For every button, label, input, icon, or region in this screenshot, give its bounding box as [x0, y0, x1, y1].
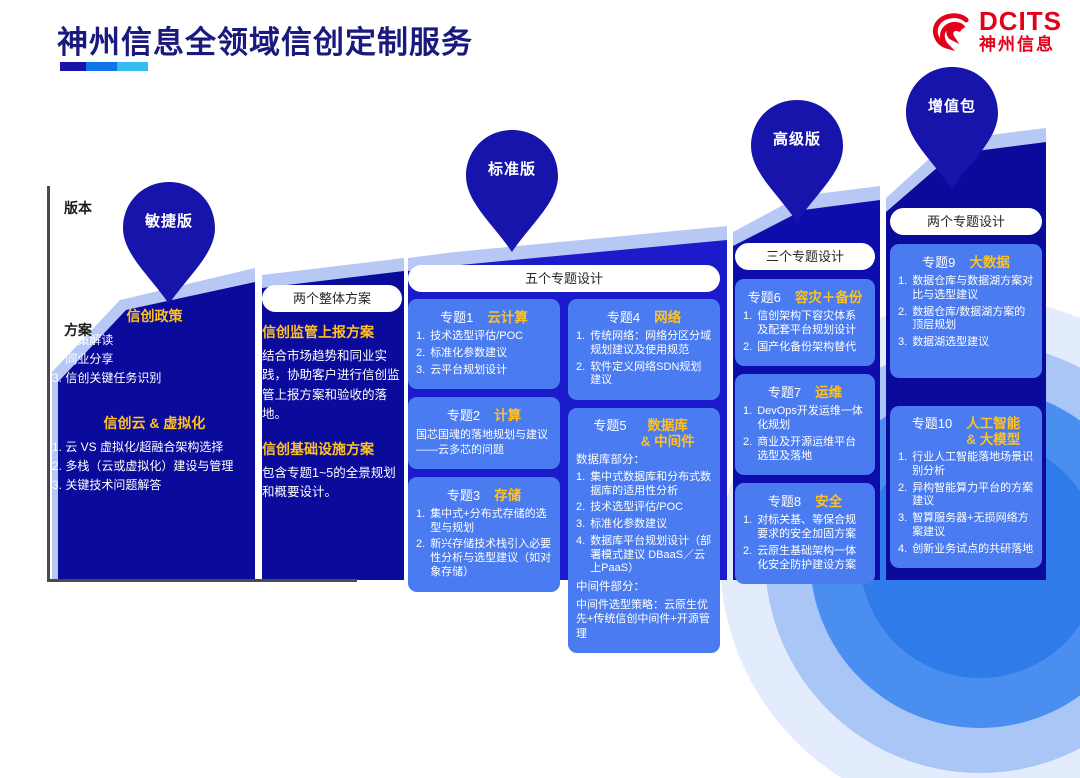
card-number: 专题9: [922, 252, 955, 271]
block-title: 信创云 & 虚拟化: [52, 413, 257, 433]
card-topic-1[interactable]: 专题1 云计算 1.技术选型评估/POC 2.标准化参数建议 3.云平台规划设计: [408, 299, 560, 389]
axis-baseline: [47, 579, 357, 582]
map-pin-icon: [120, 180, 218, 306]
card-keyword: 运维: [815, 381, 842, 401]
chip-three-topic-design: 三个专题设计: [735, 243, 875, 270]
card-keyword: 人工智能 & 大模型: [966, 416, 1020, 447]
card-number: 专题2: [447, 405, 480, 424]
card-number: 专题4: [607, 307, 640, 326]
block-xinchuang-policy: 信创政策 1. 政策解读 2. 同业分享 3. 信创关键任务识别: [52, 306, 257, 389]
card-section-label: 中间件部分：: [576, 580, 712, 595]
list-item: 2.新兴存储技术栈引入必要性分析与选型建议（如对象存储）: [416, 538, 552, 579]
list-item: 4.创新业务试点的共研落地: [898, 543, 1034, 557]
list-item: 3. 关键技术问题解答: [52, 476, 257, 495]
list-item: 2.软件定义网络SDN规划建议: [576, 361, 712, 389]
card-number: 专题10: [912, 413, 952, 432]
pin-label: 高级版: [748, 128, 846, 149]
map-pin-icon: [463, 128, 561, 254]
list-item: 2.标准化参数建议: [416, 347, 552, 361]
pin-value-pack[interactable]: 增值包: [903, 65, 1001, 191]
chip-five-topic-design: 五个专题设计: [408, 265, 720, 292]
list-item: 2.商业及开源运维平台选型及落地: [743, 436, 867, 464]
card-keyword: 大数据: [969, 251, 1010, 271]
card-topic-4[interactable]: 专题4 网络 1.传统网络：网络分区分域规划建议及使用规范 2.软件定义网络SD…: [568, 299, 720, 400]
card-section-label: 数据库部分：: [576, 453, 712, 468]
pin-label: 增值包: [903, 95, 1001, 116]
card-topic-7[interactable]: 专题7 运维 1.DevOps开发运维一体化规划 2.商业及开源运维平台选型及落…: [735, 374, 875, 475]
card-topic-9[interactable]: 专题9 大数据 1.数据仓库与数据湖方案对比与选型建议 2.数据仓库/数据湖方案…: [890, 244, 1042, 378]
card-keyword: 安全: [815, 490, 842, 510]
five-topics-left: 专题1 云计算 1.技术选型评估/POC 2.标准化参数建议 3.云平台规划设计…: [408, 299, 560, 661]
list-item: 3.云平台规划设计: [416, 364, 552, 378]
card-keyword: 云计算: [487, 306, 528, 326]
card-number: 专题6: [748, 287, 781, 306]
axis-label-version: 版本: [64, 198, 92, 218]
card-keyword: 网络: [654, 306, 681, 326]
list-item: 1. 云 VS 虚拟化/超融合架构选择: [52, 438, 257, 457]
card-number: 专题3: [447, 485, 480, 504]
list-item: 1.信创架构下容灾体系及配套平台规划设计: [743, 310, 867, 338]
chip-two-overall-plans: 两个整体方案: [262, 285, 402, 312]
block-text: 包含专题1~5的全景规划和概要设计。: [262, 464, 402, 503]
list-item: 2. 同业分享: [52, 350, 257, 369]
list-item: 2.云原生基础架构一体化安全防护建设方案: [743, 545, 867, 573]
block-title: 信创基础设施方案: [262, 439, 402, 459]
list-item: 1.集中式+分布式存储的选型与规划: [416, 508, 552, 536]
list-item: 1.集中式数据库和分布式数据库的适用性分析: [576, 471, 712, 499]
block-regulatory-reporting: 信创监管上报方案 结合市场趋势和同业实践，协助客户进行信创监管上报方案和验收的落…: [262, 322, 402, 425]
list-item: 1.传统网络：网络分区分域规划建议及使用规范: [576, 330, 712, 358]
list-item: 1.数据仓库与数据湖方案对比与选型建议: [898, 275, 1034, 303]
pin-standard[interactable]: 标准版: [463, 128, 561, 254]
five-topics-right: 专题4 网络 1.传统网络：网络分区分域规划建议及使用规范 2.软件定义网络SD…: [568, 299, 720, 661]
card-number: 专题5: [593, 415, 626, 434]
chip-two-topic-design: 两个专题设计: [890, 208, 1042, 235]
card-topic-3[interactable]: 专题3 存储 1.集中式+分布式存储的选型与规划 2.新兴存储技术栈引入必要性分…: [408, 477, 560, 592]
list-item: 1.技术选型评估/POC: [416, 330, 552, 344]
pin-agile[interactable]: 敏捷版: [120, 180, 218, 306]
map-pin-icon: [748, 98, 846, 224]
card-text: 中间件选型策略：云原生优先+传统信创中间件+开源管理: [576, 598, 712, 641]
list-item: 3.标准化参数建议: [576, 518, 712, 532]
card-topic-8[interactable]: 专题8 安全 1.对标关基、等保合规要求的安全加固方案 2.云原生基础架构一体化…: [735, 483, 875, 584]
list-item: 1.对标关基、等保合规要求的安全加固方案: [743, 514, 867, 542]
card-number: 专题7: [768, 382, 801, 401]
list-item: 2.异构智能算力平台的方案建议: [898, 482, 1034, 510]
card-text: 国芯国魂的落地规划与建议——云多芯的问题: [416, 428, 552, 457]
axis-vertical-line: [47, 186, 50, 582]
list-item: 1.DevOps开发运维一体化规划: [743, 405, 867, 433]
list-item: 1.行业人工智能落地场景识别分析: [898, 451, 1034, 479]
block-title: 信创监管上报方案: [262, 322, 402, 342]
list-item: 2. 多栈（云或虚拟化）建设与管理: [52, 457, 257, 476]
column-three-topics: 三个专题设计 专题6 容灾＋备份 1.信创架构下容灾体系及配套平台规划设计 2.…: [735, 243, 875, 592]
list-item: 2.国产化备份架构替代: [743, 341, 867, 355]
pin-label: 标准版: [463, 158, 561, 179]
card-topic-2[interactable]: 专题2 计算 国芯国魂的落地规划与建议——云多芯的问题: [408, 397, 560, 469]
block-infrastructure-plan: 信创基础设施方案 包含专题1~5的全景规划和概要设计。: [262, 439, 402, 503]
pin-advanced[interactable]: 高级版: [748, 98, 846, 224]
list-item: 2.技术选型评估/POC: [576, 501, 712, 515]
card-topic-6[interactable]: 专题6 容灾＋备份 1.信创架构下容灾体系及配套平台规划设计 2.国产化备份架构…: [735, 279, 875, 366]
pin-label: 敏捷版: [120, 210, 218, 231]
column-five-topics: 五个专题设计 专题1 云计算 1.技术选型评估/POC 2.标准化参数建议 3.…: [408, 265, 720, 661]
column-value-pack: 两个专题设计 专题9 大数据 1.数据仓库与数据湖方案对比与选型建议 2.数据仓…: [890, 208, 1042, 576]
card-number: 专题8: [768, 491, 801, 510]
list-item: 4.数据库平台规划设计（部署模式建议 DBaaS／云上PaaS）: [576, 535, 712, 576]
list-item: 3.数据湖选型建议: [898, 336, 1034, 350]
axis-label-plan: 方案: [64, 320, 92, 340]
card-topic-5[interactable]: 专题5 数据库 & 中间件 数据库部分： 1.集中式数据库和分布式数据库的适用性…: [568, 408, 720, 653]
card-keyword: 存储: [494, 484, 521, 504]
block-cloud-virtualization: 信创云 & 虚拟化 1. 云 VS 虚拟化/超融合架构选择 2. 多栈（云或虚拟…: [52, 413, 257, 496]
block-text: 结合市场趋势和同业实践，协助客户进行信创监管上报方案和验收的落地。: [262, 347, 402, 425]
list-item: 3. 信创关键任务识别: [52, 369, 257, 388]
column-overall-plans: 两个整体方案 信创监管上报方案 结合市场趋势和同业实践，协助客户进行信创监管上报…: [262, 285, 402, 502]
list-item: 3.智算服务器+无损网络方案建议: [898, 512, 1034, 540]
card-topic-10[interactable]: 专题10 人工智能 & 大模型 1.行业人工智能落地场景识别分析 2.异构智能算…: [890, 406, 1042, 568]
card-keyword: 数据库 & 中间件: [641, 418, 695, 449]
card-keyword: 容灾＋备份: [795, 286, 863, 306]
map-pin-icon: [903, 65, 1001, 191]
list-item: 2.数据仓库/数据湖方案的顶层规划: [898, 306, 1034, 334]
card-number: 专题1: [440, 307, 473, 326]
card-keyword: 计算: [494, 404, 521, 424]
